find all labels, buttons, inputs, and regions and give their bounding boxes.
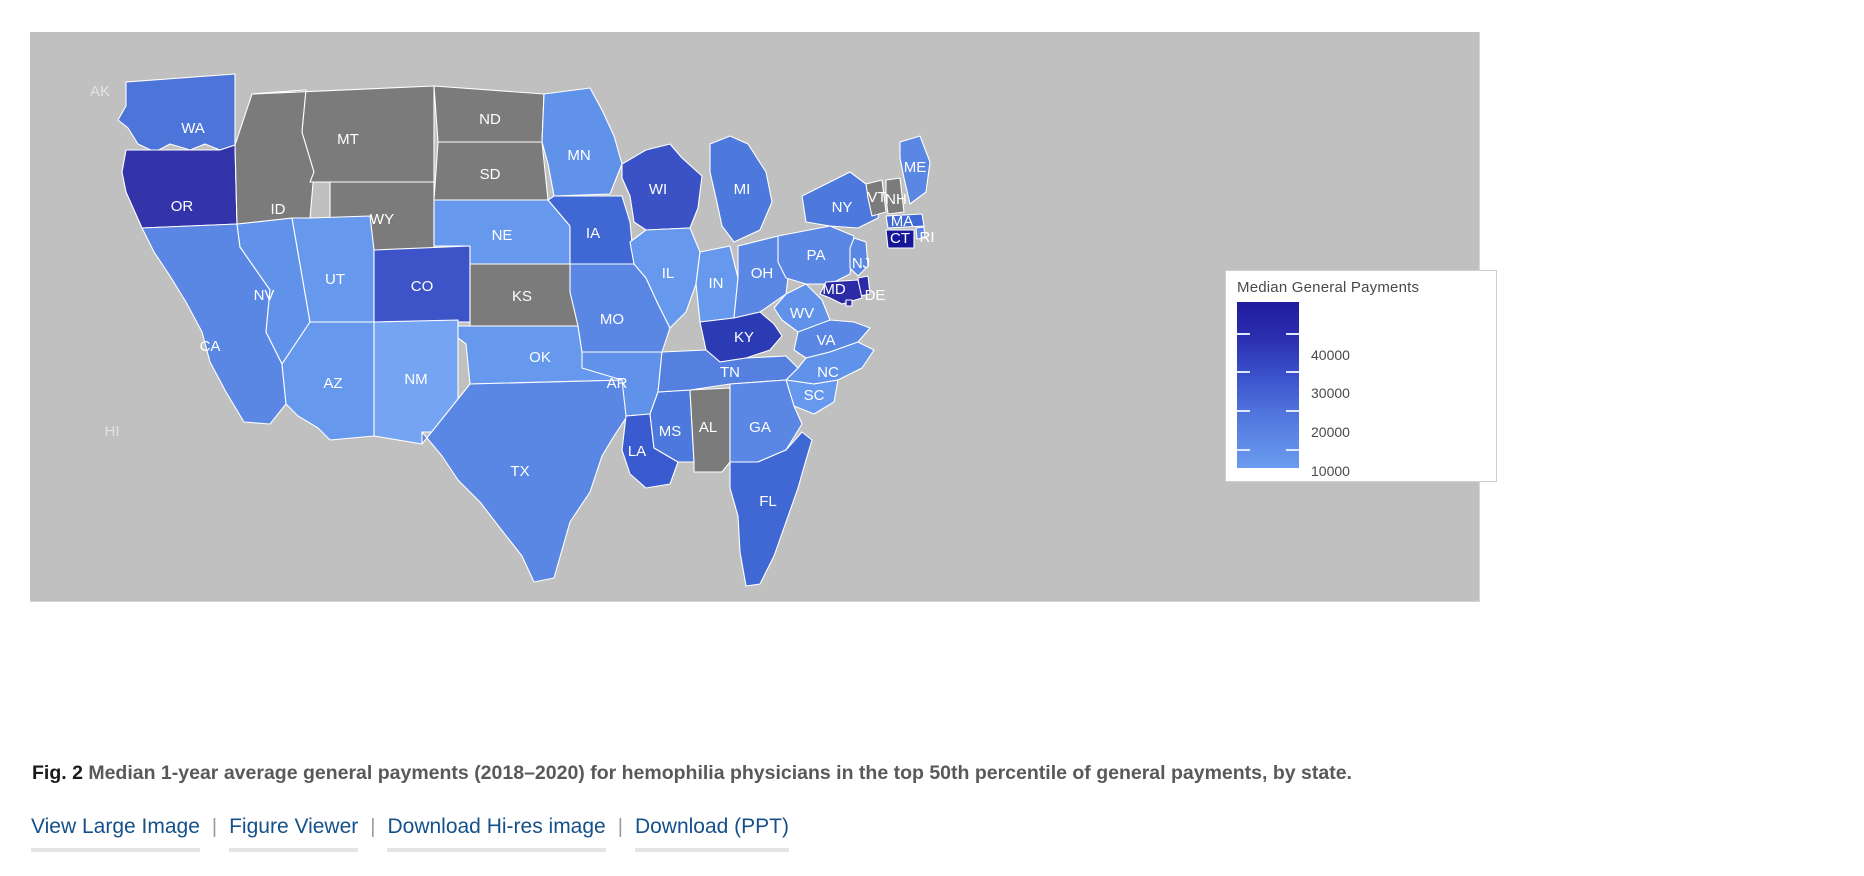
legend-gradient-swatch: [1237, 302, 1299, 468]
link-separator: |: [358, 812, 387, 842]
legend-tick-10000: [1237, 449, 1299, 451]
state-ks[interactable]: [470, 264, 578, 326]
legend-title: Median General Payments: [1237, 279, 1419, 296]
legend-tick-30000: [1237, 371, 1299, 373]
legend-tick-label-30000: 30000: [1311, 385, 1350, 401]
figure-link-view-large-image[interactable]: View Large Image: [31, 812, 200, 852]
figure-link-download-hi-res-image[interactable]: Download Hi-res image: [387, 812, 605, 852]
figure-link-download-ppt[interactable]: Download (PPT): [635, 812, 789, 852]
figure-number: Fig. 2: [32, 762, 83, 784]
figure-caption: Fig. 2 Median 1-year average general pay…: [32, 760, 1832, 786]
legend-tick-40000: [1237, 333, 1299, 335]
state-pa[interactable]: [778, 226, 854, 284]
state-co[interactable]: [374, 246, 470, 322]
state-ma[interactable]: [886, 214, 924, 228]
legend-colorbar: [1237, 302, 1299, 468]
state-or[interactable]: [122, 145, 237, 228]
map-legend: Median General Payments 4000030000200001…: [1225, 270, 1497, 482]
state-sd[interactable]: [434, 142, 548, 200]
state-me[interactable]: [900, 136, 930, 204]
legend-tick-label-10000: 10000: [1311, 463, 1350, 479]
state-id[interactable]: [235, 90, 314, 224]
offmap-label-ak: AK: [90, 83, 110, 100]
legend-tick-20000: [1237, 410, 1299, 412]
state-mn[interactable]: [542, 88, 622, 196]
state-nd[interactable]: [434, 86, 544, 142]
figure-page: WAORCANVIDMTWYUTCOAZNMNDSDNEKSOKTXMNIAMO…: [0, 0, 1864, 876]
state-wa[interactable]: [118, 74, 235, 152]
offmap-label-hi: HI: [105, 423, 120, 440]
state-tx[interactable]: [422, 380, 630, 582]
state-mi[interactable]: [710, 136, 772, 242]
legend-tick-label-40000: 40000: [1311, 347, 1350, 363]
offmap-labels-layer: AKHI: [90, 83, 120, 440]
state-in[interactable]: [696, 246, 738, 322]
link-separator: |: [200, 812, 229, 842]
figure-link-figure-viewer[interactable]: Figure Viewer: [229, 812, 358, 852]
state-ri[interactable]: [916, 227, 925, 239]
figure-actions: View Large Image|Figure Viewer|Download …: [31, 812, 789, 852]
state-ct[interactable]: [886, 230, 914, 248]
state-al[interactable]: [690, 388, 730, 472]
link-separator: |: [606, 812, 635, 842]
figure-image-panel[interactable]: WAORCANVIDMTWYUTCOAZNMNDSDNEKSOKTXMNIAMO…: [30, 32, 1480, 602]
state-nh[interactable]: [886, 178, 904, 214]
state-wi[interactable]: [622, 144, 702, 230]
figure-caption-text: Median 1-year average general payments (…: [88, 762, 1352, 784]
states-layer: [118, 74, 930, 586]
legend-tick-label-20000: 20000: [1311, 424, 1350, 440]
state-dc[interactable]: [846, 300, 852, 306]
state-nj[interactable]: [850, 238, 868, 276]
state-md[interactable]: [820, 280, 862, 304]
